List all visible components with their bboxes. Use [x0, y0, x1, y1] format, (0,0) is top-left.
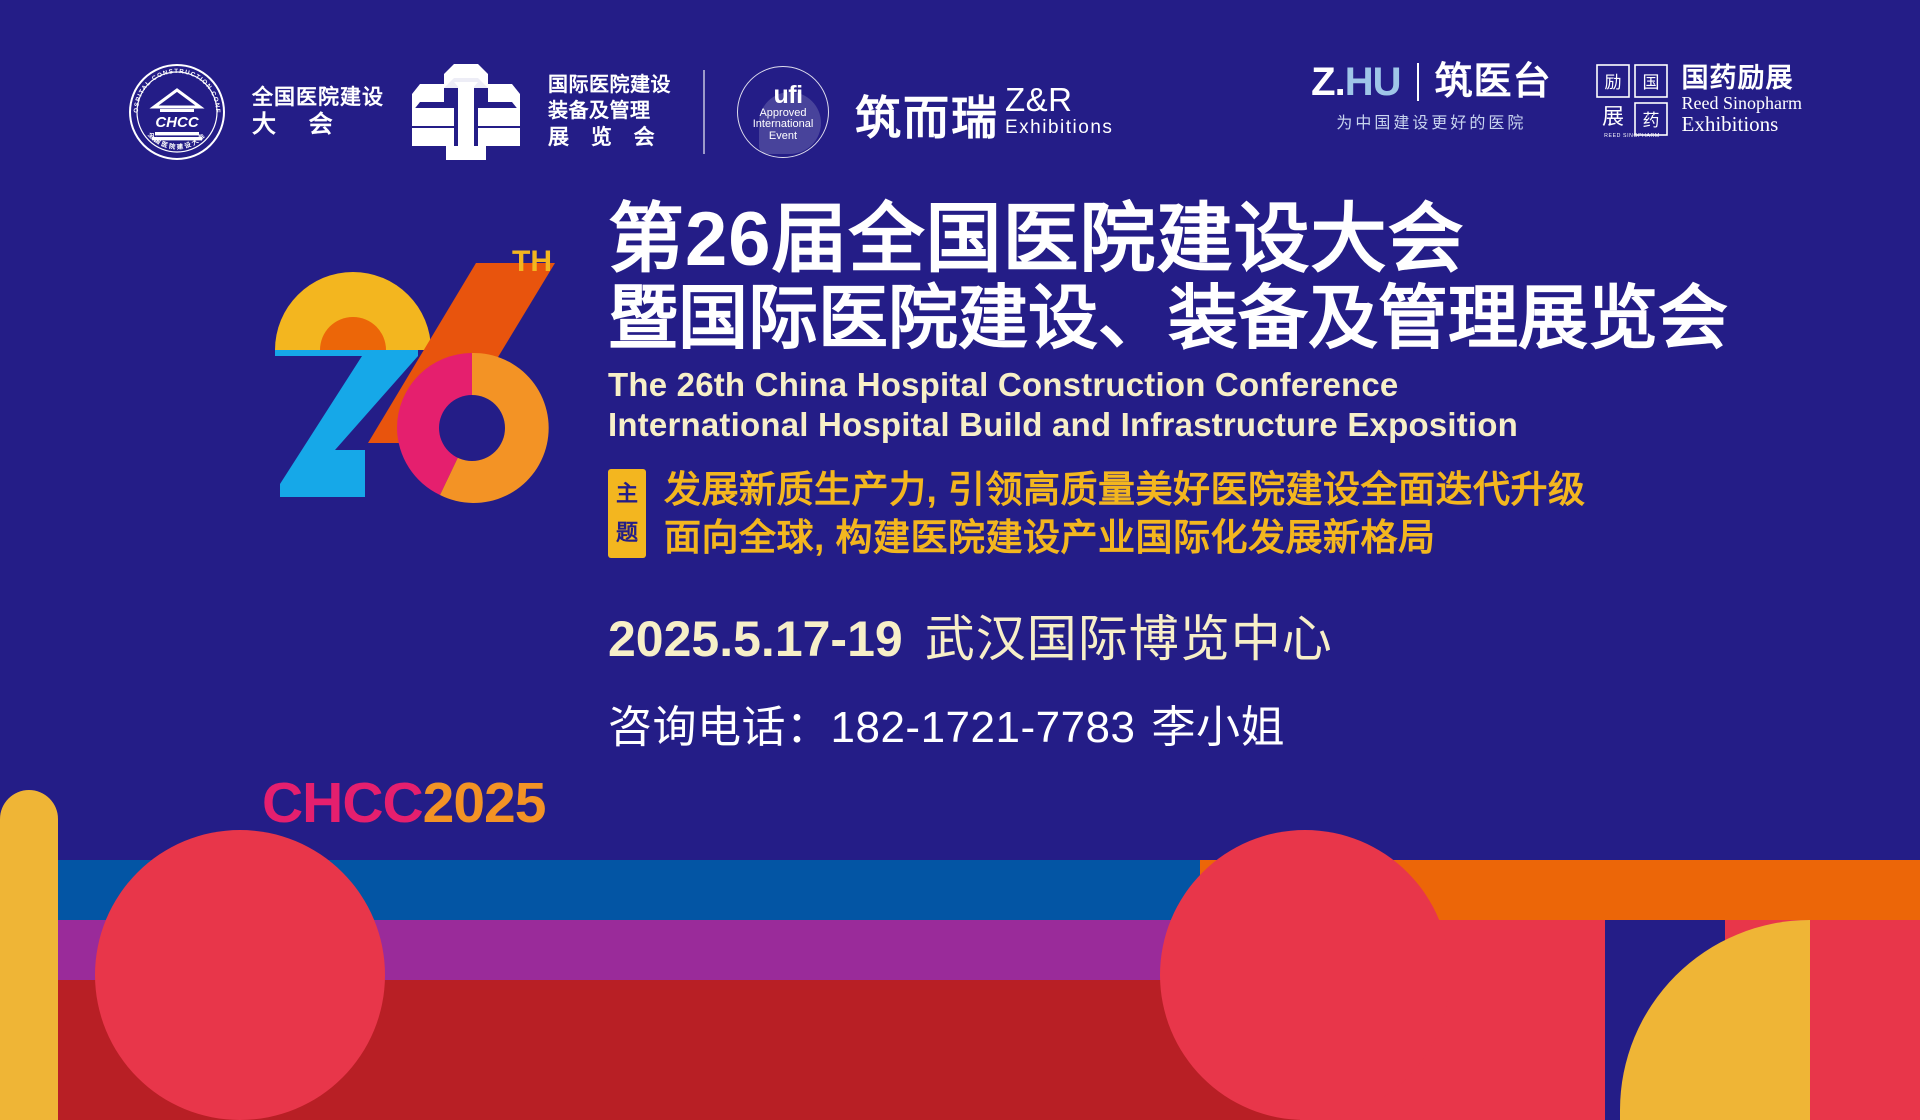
poster-canvas: CHINA HOSPITAL CONSTRUCTION CONFERENCE 全… — [0, 0, 1920, 1120]
hero-text-column: 第26届全国医院建设大会 暨国际医院建设、装备及管理展览会 The 26th C… — [608, 200, 1908, 750]
logo-group-right: Z.HU 筑医台 为中国建设更好的医院 励 国 — [1311, 62, 1802, 138]
theme-badge: 主 题 — [608, 469, 646, 558]
logo-group-left: CHINA HOSPITAL CONSTRUCTION CONFERENCE 全… — [128, 62, 1113, 162]
svg-text:国: 国 — [1642, 73, 1659, 92]
chcc-seal-icon: CHINA HOSPITAL CONSTRUCTION CONFERENCE 全… — [128, 63, 226, 161]
zhu-mark-z: Z. — [1311, 60, 1345, 104]
zr-english-sub: Exhibitions — [1005, 118, 1113, 138]
logo-divider — [703, 70, 705, 154]
svg-text:CHCC: CHCC — [155, 114, 199, 131]
theme-text-lines: 发展新质生产力, 引领高质量美好医院建设全面迭代升级 面向全球, 构建医院建设产… — [664, 469, 1586, 558]
expo-label-line3: 展 览 会 — [548, 127, 671, 149]
zhu-tagline: 为中国建设更好的医院 — [1336, 109, 1526, 133]
chcc-26th-anniversary-logo-icon: TH — [250, 225, 560, 515]
reed-label: 国药励展 Reed Sinopharm Exhibitions — [1682, 64, 1802, 135]
wordmark-chcc: CHCC — [262, 771, 423, 835]
chcc-seal-label: 全国医院建设 大 会 — [252, 87, 384, 137]
zhu-chinese-name: 筑医台 — [1435, 63, 1552, 101]
svg-text:励: 励 — [1604, 73, 1621, 92]
expo-label-line1: 国际医院建设 — [548, 75, 671, 96]
ufi-sub-event: Event — [769, 131, 797, 142]
column-yellow — [0, 790, 58, 1120]
expo-label-line2: 装备及管理 — [548, 101, 671, 122]
zhu-logo-row: Z.HU 筑医台 — [1311, 62, 1551, 102]
theme-block: 主 题 发展新质生产力, 引领高质量美好医院建设全面迭代升级 面向全球, 构建医… — [608, 469, 1908, 558]
svg-text:REED SINOPHARM: REED SINOPHARM — [1604, 133, 1660, 138]
zhu-mark-h: H — [1345, 60, 1373, 104]
svg-text:药: 药 — [1642, 111, 1659, 130]
zr-exhibitions-logo: 筑而瑞 Z&R Exhibitions — [855, 83, 1113, 141]
ufi-approved-event-icon: ufi Approved International Event — [737, 66, 829, 158]
chcc2025-wordmark: CHCC2025 — [262, 775, 545, 832]
expo-label: 国际医院建设 装备及管理 展 览 会 — [548, 75, 671, 149]
expo-building-icon — [410, 62, 522, 162]
svg-text:TH: TH — [512, 245, 552, 278]
reed-english-line2: Exhibitions — [1682, 113, 1802, 136]
zr-chinese-name: 筑而瑞 — [855, 95, 999, 141]
circle-crimson-right — [1160, 830, 1450, 1120]
zhu-divider — [1417, 63, 1419, 101]
title-english-line2: International Hospital Build and Infrast… — [608, 405, 1908, 445]
title-chinese-line1: 第26届全国医院建设大会 — [608, 200, 1908, 279]
zr-english-block: Z&R Exhibitions — [1005, 83, 1113, 141]
zhu-platform-logo: Z.HU 筑医台 为中国建设更好的医院 — [1311, 62, 1551, 133]
contact-person: 李小姐 — [1151, 703, 1285, 752]
theme-badge-char1: 主 — [616, 483, 638, 505]
event-venue: 武汉国际博览中心 — [925, 611, 1333, 667]
reed-english-line1: Reed Sinopharm — [1682, 94, 1802, 113]
chcc-label-line2: 大 会 — [252, 113, 384, 137]
contact-line: 咨询电话：182-1721-7783李小姐 — [608, 706, 1908, 750]
title-english-line1: The 26th China Hospital Construction Con… — [608, 365, 1908, 405]
ufi-sub-international: International — [753, 119, 814, 130]
date-and-venue: 2025.5.17-19武汉国际博览中心 — [608, 614, 1908, 664]
zhu-mark-u: U — [1373, 60, 1401, 104]
wordmark-year: 2025 — [423, 771, 546, 835]
reed-seal-icon: 励 国 药 展 REED SINOPHARM — [1594, 62, 1670, 138]
circle-crimson-left — [95, 830, 385, 1120]
ufi-wordmark: ufi — [773, 82, 802, 108]
contact-phone: 咨询电话：182-1721-7783 — [608, 703, 1135, 752]
theme-line2: 面向全球, 构建医院建设产业国际化发展新格局 — [664, 517, 1586, 558]
event-date: 2025.5.17-19 — [608, 611, 903, 667]
zhu-wordmark: Z.HU — [1311, 62, 1400, 102]
ufi-text-block: ufi Approved International Event — [737, 66, 829, 158]
theme-line1: 发展新质生产力, 引领高质量美好医院建设全面迭代升级 — [664, 469, 1586, 510]
reed-chinese-name: 国药励展 — [1682, 64, 1802, 93]
svg-text:展: 展 — [1602, 104, 1624, 129]
title-chinese-line2: 暨国际医院建设、装备及管理展览会 — [608, 281, 1908, 357]
zr-english-name: Z&R — [1005, 83, 1113, 118]
reed-sinopharm-logo: 励 国 药 展 REED SINOPHARM 国药励展 Reed Sinopha… — [1594, 62, 1802, 138]
chcc-label-line1: 全国医院建设 — [252, 87, 384, 108]
logo-bar: CHINA HOSPITAL CONSTRUCTION CONFERENCE 全… — [0, 0, 1920, 190]
theme-badge-char2: 题 — [616, 522, 638, 544]
